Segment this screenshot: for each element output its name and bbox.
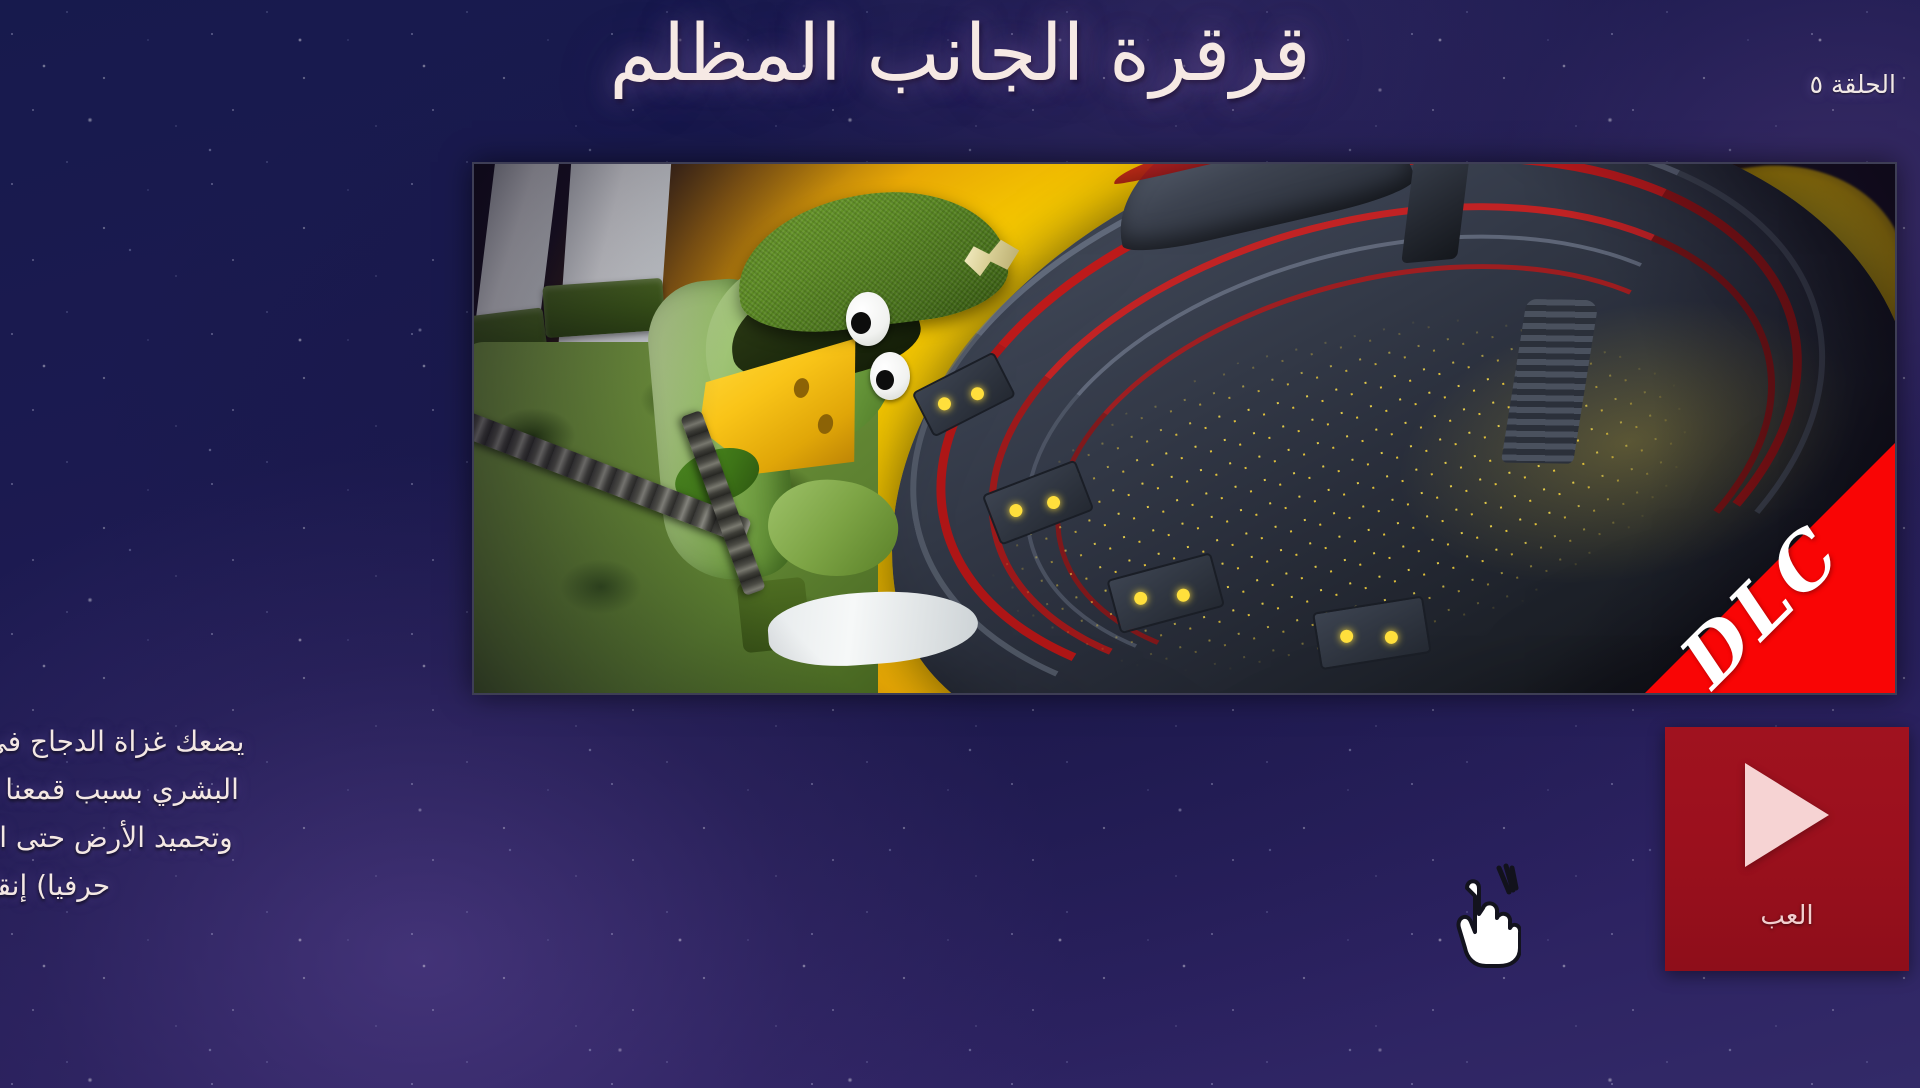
episode-banner-image[interactable]: DLC (472, 162, 1897, 695)
page-title: قرقرة الجانب المظلم (0, 10, 1920, 100)
description-line-3: وتجميد الأرض حتى الموت. الأمر متروك (0, 814, 480, 862)
play-triangle-icon (1745, 763, 1829, 867)
play-button[interactable]: العب (1665, 727, 1909, 971)
description-line-2: البشري بسبب قمعنا لدجاج الأرض. في ه (0, 766, 480, 814)
pointing-hand-cursor (1449, 860, 1521, 970)
play-button-label: العب (1760, 901, 1813, 931)
episode-description: يضعك غزاة الدجاج في طليعة المعركة ض البش… (0, 718, 480, 910)
description-line-1: يضعك غزاة الدجاج في طليعة المعركة ض (0, 718, 480, 766)
description-line-4: حرفيا) إنقاذ اليوم! (0, 862, 480, 910)
game-episode-screen: الحلقة ٥ قرقرة الجانب المظلم (0, 0, 1920, 1088)
banner-vignette (474, 164, 1895, 693)
